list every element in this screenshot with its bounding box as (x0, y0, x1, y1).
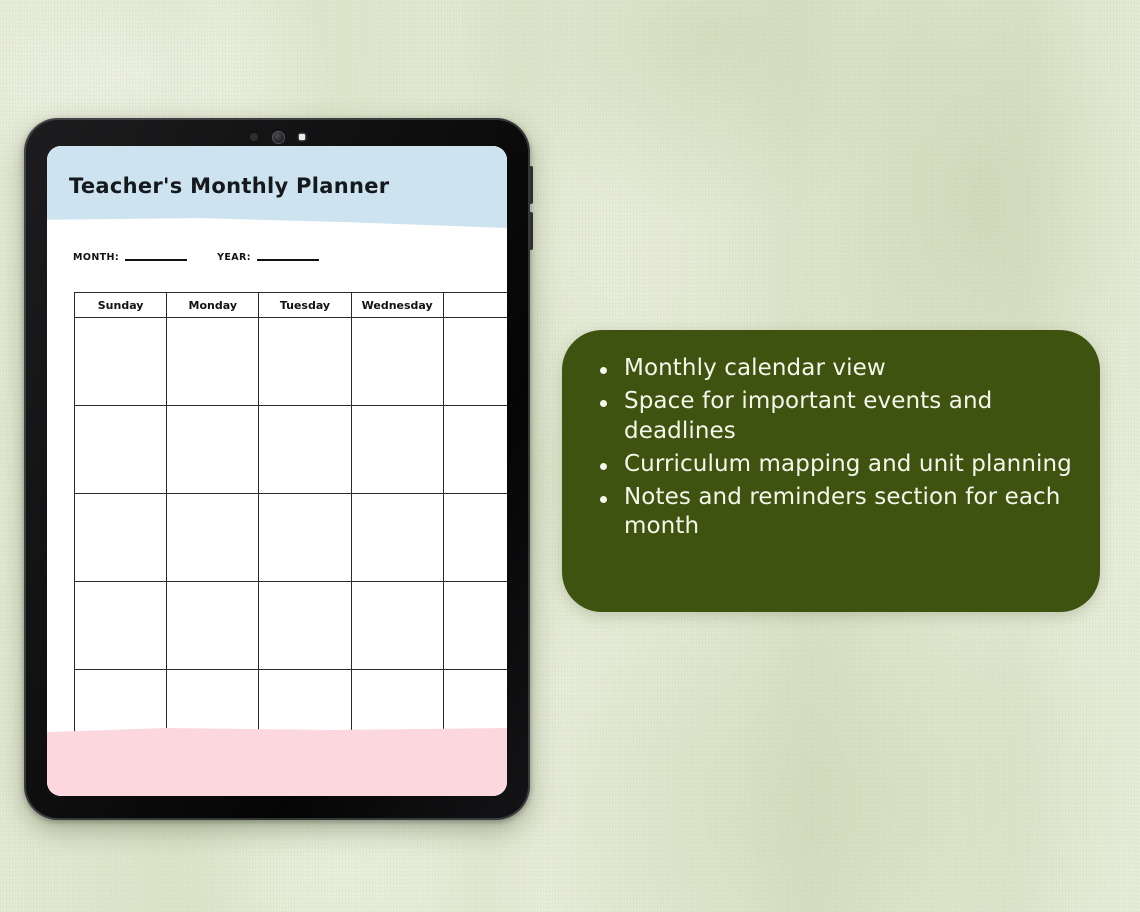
planner-footer-band (47, 728, 507, 796)
calendar-day-cell-clipped[interactable] (443, 494, 507, 582)
list-item-label: Curriculum mapping and unit planning (624, 451, 1072, 477)
top-sensor-cluster (24, 129, 530, 145)
calendar-day-cell[interactable] (167, 494, 259, 582)
calendar-day-cell[interactable] (351, 494, 443, 582)
calendar-day-cell[interactable] (75, 318, 167, 406)
calendar-week-row (75, 582, 508, 670)
front-camera-icon (272, 131, 285, 144)
feature-list: Monthly calendar view Space for importan… (594, 354, 1084, 545)
month-field[interactable]: MONTH: (73, 252, 187, 263)
calendar-day-cell[interactable] (259, 582, 351, 670)
feature-list-panel: Monthly calendar view Space for importan… (562, 330, 1100, 612)
list-item-label: Monthly calendar view (624, 355, 886, 381)
calendar-day-cell-clipped[interactable] (443, 318, 507, 406)
year-label: YEAR: (217, 252, 251, 263)
list-item: Notes and reminders section for each mon… (594, 483, 1084, 543)
calendar-day-cell[interactable] (351, 582, 443, 670)
page-title: Teacher's Monthly Planner (69, 174, 389, 198)
month-input-blank[interactable] (125, 259, 187, 261)
calendar-week-row (75, 406, 508, 494)
calendar-day-cell[interactable] (75, 494, 167, 582)
year-input-blank[interactable] (257, 259, 319, 261)
planner-meta-row: MONTH: YEAR: (73, 252, 319, 263)
calendar-week-row (75, 318, 508, 406)
calendar-day-cell[interactable] (167, 406, 259, 494)
calendar-day-cell[interactable] (167, 582, 259, 670)
list-item: Curriculum mapping and unit planning (594, 450, 1084, 480)
bullet-icon (600, 400, 607, 407)
list-item-label: Notes and reminders section for each mon… (624, 484, 1060, 540)
calendar-day-cell[interactable] (75, 406, 167, 494)
bullet-icon (600, 496, 607, 503)
calendar-column-header: Sunday (75, 293, 167, 318)
list-item: Monthly calendar view (594, 354, 1084, 384)
calendar-day-cell[interactable] (259, 406, 351, 494)
list-item: Space for important events and deadlines (594, 387, 1084, 447)
calendar-column-header: Tuesday (259, 293, 351, 318)
tablet-screen: Teacher's Monthly Planner MONTH: YEAR: (47, 146, 507, 796)
calendar-day-cell[interactable] (259, 318, 351, 406)
calendar-day-cell-clipped[interactable] (443, 582, 507, 670)
tablet-device-mockup: Teacher's Monthly Planner MONTH: YEAR: (24, 118, 530, 820)
bullet-icon (600, 463, 607, 470)
calendar-day-cell[interactable] (259, 494, 351, 582)
list-item-label: Space for important events and deadlines (624, 388, 992, 444)
calendar-column-header: Monday (167, 293, 259, 318)
monthly-calendar-grid: Sunday Monday Tuesday Wednesday (74, 292, 507, 758)
calendar-day-cell[interactable] (351, 318, 443, 406)
calendar-day-cell[interactable] (75, 582, 167, 670)
calendar-day-cell[interactable] (167, 318, 259, 406)
volume-down-button[interactable] (529, 212, 533, 250)
bullet-icon (600, 367, 607, 374)
calendar-day-cell-clipped[interactable] (443, 406, 507, 494)
calendar-column-header: Wednesday (351, 293, 443, 318)
month-label: MONTH: (73, 252, 119, 263)
calendar-week-row (75, 494, 508, 582)
calendar-day-cell[interactable] (351, 406, 443, 494)
ambient-light-sensor-icon (299, 134, 305, 140)
calendar-column-header-clipped (443, 293, 507, 318)
volume-up-button[interactable] (529, 166, 533, 204)
calendar-header-row: Sunday Monday Tuesday Wednesday (75, 293, 508, 318)
planner-page: Teacher's Monthly Planner MONTH: YEAR: (47, 146, 507, 796)
year-field[interactable]: YEAR: (217, 252, 319, 263)
proximity-sensor-icon (250, 133, 258, 141)
